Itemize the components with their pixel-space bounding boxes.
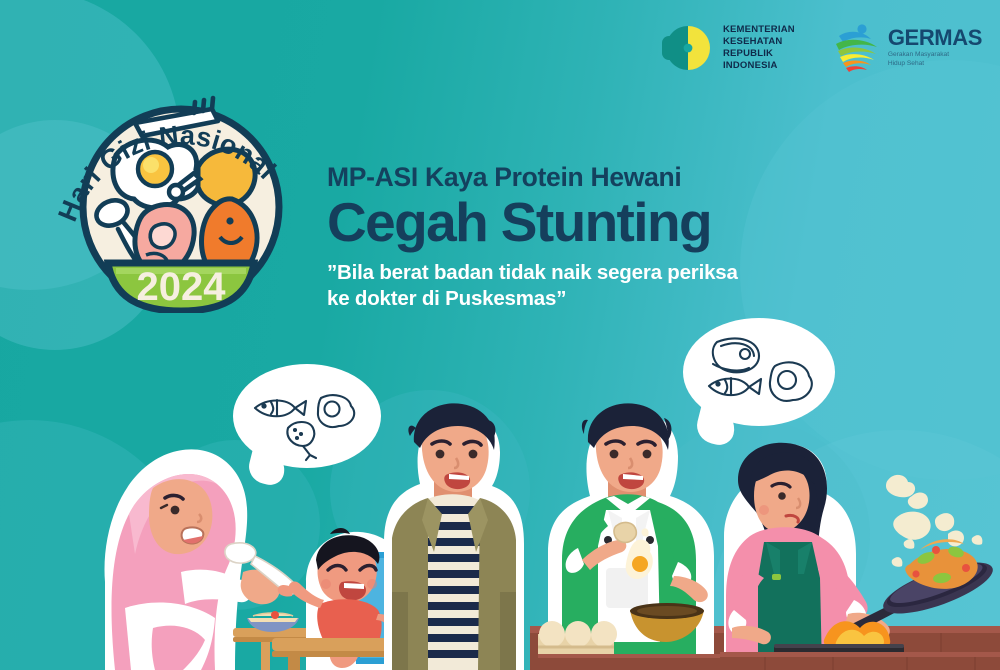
germas-logo: GERMAS Gerakan Masyarakat Hidup Sehat xyxy=(833,22,982,74)
steak-icon xyxy=(713,338,759,372)
headline-title: Cegah Stunting xyxy=(327,194,738,250)
fried-egg-icon xyxy=(770,362,812,401)
germas-wordmark: GERMAS Gerakan Masyarakat Hidup Sehat xyxy=(888,27,982,68)
germas-subtitle-line: Hidup Sehat xyxy=(888,60,982,69)
germas-title: GERMAS xyxy=(888,27,982,49)
quote-line: ”Bila berat badan tidak naik segera peri… xyxy=(327,260,738,286)
logo-row: KEMENTERIAN KESEHATAN REPUBLIK INDONESIA xyxy=(662,22,982,74)
man-cracking-egg xyxy=(538,392,728,670)
headline-kicker: MP-ASI Kaya Protein Hewani xyxy=(327,163,738,192)
kemenkes-line: KEMENTERIAN xyxy=(723,24,795,36)
woman-stir-frying xyxy=(720,438,1000,670)
germas-subtitle: Gerakan Masyarakat Hidup Sehat xyxy=(888,51,982,68)
poster-root: KEMENTERIAN KESEHATAN REPUBLIK INDONESIA xyxy=(0,0,1000,670)
kemenkes-line: INDONESIA xyxy=(723,60,795,72)
germas-subtitle-line: Gerakan Masyarakat xyxy=(888,51,982,60)
quote-line: ke dokter di Puskesmas” xyxy=(327,286,738,312)
kemenkes-logo: KEMENTERIAN KESEHATAN REPUBLIK INDONESIA xyxy=(662,22,795,74)
father-standing xyxy=(378,392,528,670)
kemenkes-wordmark: KEMENTERIAN KESEHATAN REPUBLIK INDONESIA xyxy=(723,24,795,73)
headline-quote: ”Bila berat badan tidak naik segera peri… xyxy=(327,260,738,312)
kemenkes-line: KESEHATAN xyxy=(723,36,795,48)
fried-egg-icon xyxy=(318,395,354,427)
badge-arc-text: Hari Gizi Nasional xyxy=(50,77,312,339)
kemenkes-mark-icon xyxy=(662,22,714,74)
badge-arc-label: Hari Gizi Nasional xyxy=(52,120,282,225)
svg-text:Hari Gizi Nasional: Hari Gizi Nasional xyxy=(52,120,282,225)
fish-icon xyxy=(255,400,306,416)
germas-mark-icon xyxy=(833,22,881,74)
hari-gizi-nasional-badge: Hari Gizi Nasional xyxy=(72,95,290,313)
headline-block: MP-ASI Kaya Protein Hewani Cegah Stuntin… xyxy=(327,163,738,312)
kemenkes-line: REPUBLIK xyxy=(723,48,795,60)
